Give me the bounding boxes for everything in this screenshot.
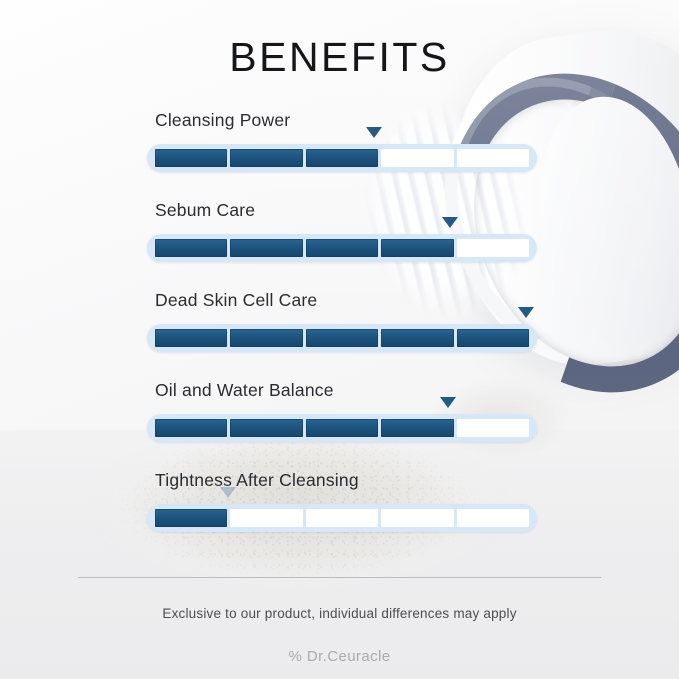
benefit-bar-track — [147, 504, 537, 532]
bar-segment — [381, 509, 453, 527]
bar-segment — [457, 149, 529, 167]
bar-segment — [230, 149, 302, 167]
benefit-row: Sebum Care — [0, 200, 679, 290]
benefit-bar-track — [147, 234, 537, 262]
bar-segment — [306, 509, 378, 527]
benefit-row: Oil and Water Balance — [0, 380, 679, 470]
benefit-bar-track — [147, 414, 537, 442]
infographic-canvas: BENEFITS Cleansing Power Sebum Care — [0, 0, 679, 679]
bar-segment — [457, 419, 529, 437]
bar-segment — [155, 239, 227, 257]
bar-segment — [155, 329, 227, 347]
benefit-row: Cleansing Power — [0, 110, 679, 200]
benefit-bar-track — [147, 144, 537, 172]
bar-segment — [306, 419, 378, 437]
bar-segment — [230, 419, 302, 437]
benefit-label: Sebum Care — [155, 200, 255, 221]
score-marker-icon — [442, 217, 458, 228]
benefit-label: Tightness After Cleansing — [155, 470, 359, 491]
bar-segment — [230, 239, 302, 257]
page-title: BENEFITS — [0, 34, 679, 81]
bar-segment — [230, 329, 302, 347]
bar-segment — [381, 329, 453, 347]
bar-segment — [381, 419, 453, 437]
bar-segment — [230, 509, 302, 527]
footer-divider — [78, 577, 601, 578]
score-marker-icon — [440, 397, 456, 408]
bar-segment — [381, 149, 453, 167]
bar-segment — [306, 239, 378, 257]
bar-segment — [155, 149, 227, 167]
bar-segment — [155, 509, 227, 527]
benefit-bar-list: Cleansing Power Sebum Care — [0, 110, 679, 560]
score-marker-icon — [518, 307, 534, 318]
footnote-text: Exclusive to our product, individual dif… — [0, 606, 679, 621]
benefit-label: Dead Skin Cell Care — [155, 290, 317, 311]
bar-segment — [155, 419, 227, 437]
bar-segment — [381, 239, 453, 257]
score-marker-icon — [220, 487, 236, 498]
benefit-row: Dead Skin Cell Care — [0, 290, 679, 380]
bar-segment — [457, 239, 529, 257]
content-layer: BENEFITS Cleansing Power Sebum Care — [0, 0, 679, 679]
benefit-label: Cleansing Power — [155, 110, 290, 131]
bar-segment — [457, 509, 529, 527]
benefit-label: Oil and Water Balance — [155, 380, 334, 401]
bar-segment — [306, 329, 378, 347]
bar-segment — [457, 329, 529, 347]
score-marker-icon — [366, 127, 382, 138]
benefit-row: Tightness After Cleansing — [0, 470, 679, 560]
brand-logo: % Dr.Ceuracle — [0, 648, 679, 665]
bar-segment — [306, 149, 378, 167]
benefit-bar-track — [147, 324, 537, 352]
